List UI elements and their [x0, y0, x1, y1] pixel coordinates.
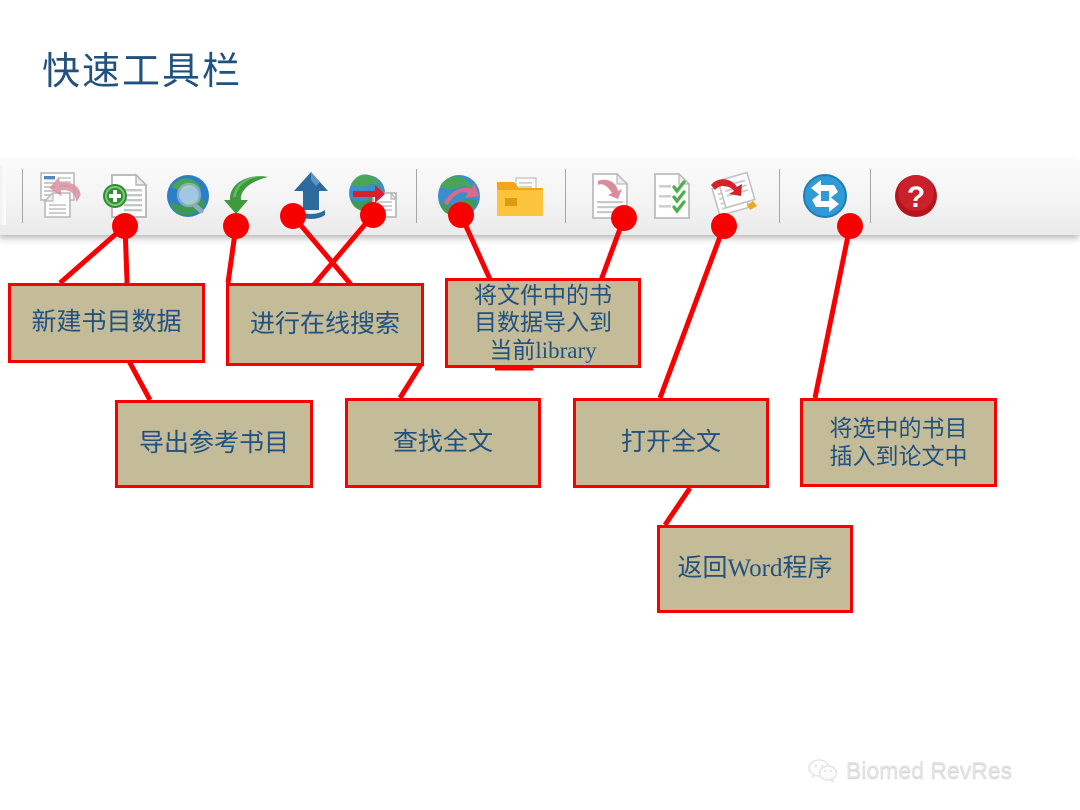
- callout-text: 查找全文: [389, 428, 497, 458]
- callout-export-bibliography: 导出参考书目: [115, 400, 313, 488]
- toolbar-button-export-bibliography[interactable]: [219, 165, 281, 227]
- svg-text:?: ?: [907, 181, 925, 214]
- toolbar-button-help[interactable]: ?: [885, 165, 947, 227]
- callout-find-full-text: 查找全文: [345, 398, 541, 488]
- blue-sync-icon: [800, 171, 850, 221]
- globe-pink-arrow-icon: [434, 171, 484, 221]
- yellow-folder-icon: [494, 172, 548, 220]
- toolbar-divider: [870, 169, 871, 223]
- callout-text-line1: 将选中的书目: [826, 415, 972, 442]
- find-full-text-icon: [586, 171, 634, 221]
- callout-text-line1: 将文件中的书: [470, 282, 616, 309]
- callout-text-line2: 插入到论文中: [826, 443, 972, 470]
- export-green-arrow-icon: [223, 171, 277, 221]
- toolbar-divider: [779, 169, 780, 223]
- toolbar-divider: [565, 169, 566, 223]
- watermark: Biomed RevRes: [808, 757, 1012, 784]
- new-reference-icon: [100, 171, 152, 221]
- callout-text: 导出参考书目: [135, 429, 293, 459]
- toolbar-button-open-full-text[interactable]: [490, 165, 552, 227]
- toolbar-button-online-mode[interactable]: [428, 165, 490, 227]
- toolbar-button-copy-references[interactable]: [33, 165, 95, 227]
- help-question-icon: ?: [891, 171, 941, 221]
- toolbar-button-find-full-text[interactable]: [579, 165, 641, 227]
- callout-text-line3: 当前library: [470, 337, 616, 364]
- callout-text: 返回Word程序: [674, 554, 837, 584]
- copy-references-icon: [38, 171, 90, 221]
- online-search-icon: [163, 171, 213, 221]
- wechat-icon: [808, 758, 838, 784]
- toolbar-button-checklist[interactable]: [641, 165, 703, 227]
- callout-text: 新建书目数据: [27, 308, 185, 338]
- toolbar-button-online-search[interactable]: [157, 165, 219, 227]
- callout-return-to-word: 返回Word程序: [657, 525, 853, 613]
- callout-online-search: 进行在线搜索: [226, 283, 424, 366]
- toolbar-button-return-to-word[interactable]: [794, 165, 856, 227]
- callout-open-full-text: 打开全文: [573, 398, 769, 488]
- toolbar-button-sync-up[interactable]: [281, 165, 343, 227]
- callout-import-file: 将文件中的书 目数据导入到 当前library: [445, 278, 641, 368]
- callout-new-reference: 新建书目数据: [8, 283, 205, 363]
- toolbar-button-insert-citation[interactable]: [703, 165, 765, 227]
- toolbar-button-new-reference[interactable]: [95, 165, 157, 227]
- callout-text: 进行在线搜索: [246, 310, 404, 340]
- checklist-icon: [648, 171, 696, 221]
- toolbar-divider: [416, 169, 417, 223]
- quick-access-toolbar[interactable]: ?: [0, 157, 1080, 235]
- toolbar-button-import-file[interactable]: [343, 165, 405, 227]
- callout-text: 打开全文: [617, 428, 725, 458]
- insert-citation-icon: [707, 171, 761, 221]
- callout-insert-citation: 将选中的书目 插入到论文中: [800, 398, 997, 487]
- toolbar-divider: [22, 169, 23, 223]
- watermark-text: Biomed RevRes: [846, 757, 1012, 784]
- callout-text-line2: 目数据导入到: [470, 309, 616, 336]
- blue-up-arrow-icon: [287, 170, 337, 222]
- page-title: 快速工具栏: [42, 40, 242, 95]
- globe-import-file-icon: [347, 171, 401, 221]
